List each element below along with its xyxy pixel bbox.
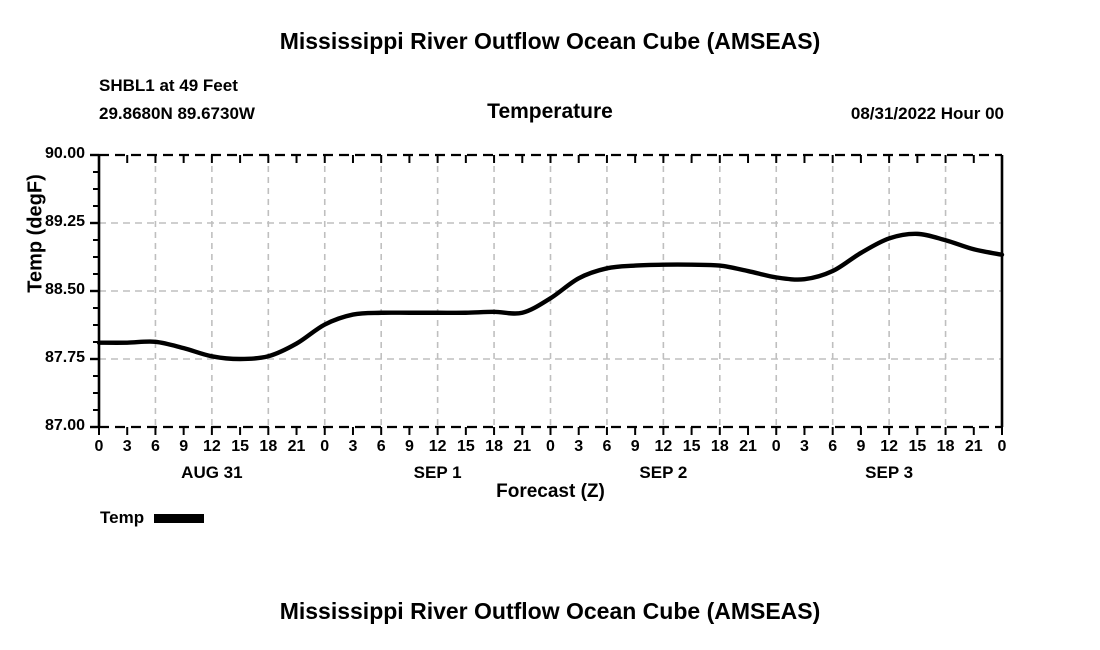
chart-page: Mississippi River Outflow Ocean Cube (AM… (0, 0, 1100, 650)
x-tick-label: 3 (574, 438, 583, 456)
y-tick-label: 90.00 (9, 145, 85, 163)
x-tick-label: 6 (602, 438, 611, 456)
x-tick-label: 9 (856, 438, 865, 456)
x-axis-label: Forecast (Z) (99, 481, 1002, 503)
x-tick-label: 18 (711, 438, 729, 456)
y-tick-label: 89.25 (9, 213, 85, 231)
y-tick-label: 87.75 (9, 349, 85, 367)
x-tick-label: 9 (405, 438, 414, 456)
data-series (99, 234, 1002, 359)
x-tick-label: 12 (654, 438, 672, 456)
y-tick-label: 87.00 (9, 417, 85, 435)
x-tick-label: 21 (739, 438, 757, 456)
x-tick-label: 6 (377, 438, 386, 456)
x-tick-label: 21 (965, 438, 983, 456)
x-tick-label: 15 (457, 438, 475, 456)
x-tick-label: 0 (546, 438, 555, 456)
x-tick-label: 3 (349, 438, 358, 456)
legend-series-label: Temp (100, 508, 144, 528)
x-tick-label: 0 (998, 438, 1007, 456)
x-tick-label: 3 (800, 438, 809, 456)
plot-area: Temp (degF) Forecast (Z) 90.0089.2588.50… (0, 0, 1100, 650)
x-tick-label: 18 (937, 438, 955, 456)
x-tick-label: 12 (429, 438, 447, 456)
x-tick-label: 18 (259, 438, 277, 456)
gridlines (99, 155, 1002, 427)
axis-ticks (90, 155, 1002, 435)
x-tick-label: 15 (683, 438, 701, 456)
x-tick-label: 21 (513, 438, 531, 456)
legend: Temp (100, 508, 204, 528)
day-label: SEP 3 (865, 463, 913, 483)
x-tick-label: 12 (880, 438, 898, 456)
footer-title: Mississippi River Outflow Ocean Cube (AM… (0, 598, 1100, 625)
x-tick-label: 6 (828, 438, 837, 456)
x-tick-label: 18 (485, 438, 503, 456)
chart-svg (0, 0, 1100, 650)
x-tick-label: 15 (908, 438, 926, 456)
day-label: SEP 1 (414, 463, 462, 483)
x-tick-label: 0 (772, 438, 781, 456)
x-tick-label: 6 (151, 438, 160, 456)
x-tick-label: 0 (320, 438, 329, 456)
x-tick-label: 0 (95, 438, 104, 456)
legend-line-swatch (154, 514, 204, 523)
x-tick-label: 12 (203, 438, 221, 456)
x-tick-label: 3 (123, 438, 132, 456)
x-tick-label: 21 (288, 438, 306, 456)
x-tick-label: 9 (631, 438, 640, 456)
day-label: SEP 2 (639, 463, 687, 483)
day-label: AUG 31 (181, 463, 242, 483)
y-tick-label: 88.50 (9, 281, 85, 299)
x-tick-label: 9 (179, 438, 188, 456)
x-tick-label: 15 (231, 438, 249, 456)
